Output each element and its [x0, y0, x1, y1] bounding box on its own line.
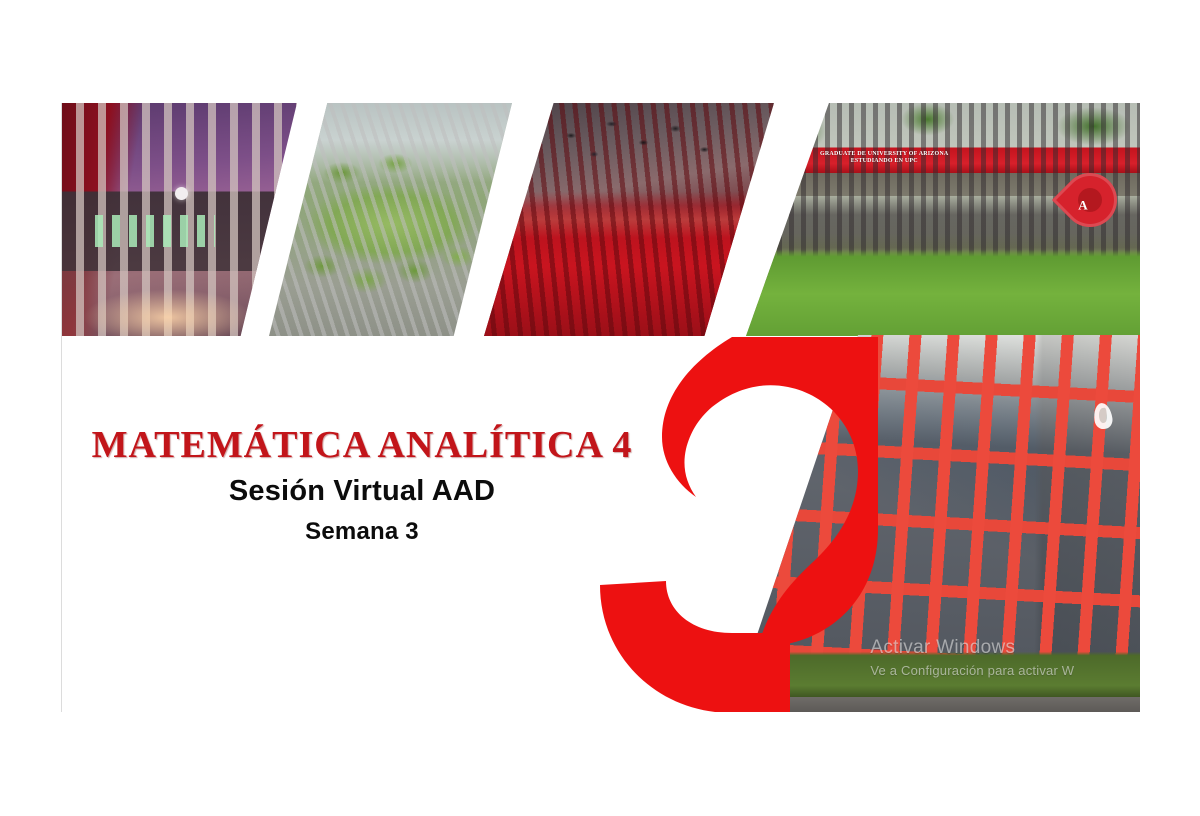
- arizona-location-pin-icon: A: [1052, 162, 1128, 238]
- slide-subtitle: Sesión Virtual AAD: [62, 475, 662, 508]
- arizona-pin-letter: A: [1073, 196, 1093, 216]
- photo-collage-strip: GRADUATE DE UNIVERSITY OF ARIZONA ESTUDI…: [62, 103, 1140, 336]
- title-block: MATEMÁTICA ANALÍTICA 4 Sesión Virtual AA…: [62, 423, 662, 546]
- photo-arizona-group-image: GRADUATE DE UNIVERSITY OF ARIZONA ESTUDI…: [746, 103, 1140, 336]
- slide-content-area: GRADUATE DE UNIVERSITY OF ARIZONA ESTUDI…: [61, 103, 1140, 712]
- arizona-banner-text: GRADUATE DE UNIVERSITY OF ARIZONA ESTUDI…: [793, 151, 975, 166]
- upc-wall-logo-icon: [1093, 402, 1114, 430]
- photo-graduation-image: [484, 103, 774, 336]
- photo-graduation: [484, 103, 774, 336]
- photo-campus-aerial-image: [269, 103, 512, 336]
- photo-campus-aerial: [269, 103, 512, 336]
- slide-canvas: GRADUATE DE UNIVERSITY OF ARIZONA ESTUDI…: [0, 0, 1200, 816]
- photo-campus-dusk: [62, 103, 297, 336]
- lit-windows: [86, 215, 215, 248]
- photo-arizona-group: GRADUATE DE UNIVERSITY OF ARIZONA ESTUDI…: [746, 103, 1140, 336]
- photo-campus-dusk-image: [62, 103, 297, 336]
- building-logo-mark-icon: [175, 187, 188, 200]
- page-title: MATEMÁTICA ANALÍTICA 4: [62, 423, 662, 467]
- slide-week-label: Semana 3: [62, 518, 662, 546]
